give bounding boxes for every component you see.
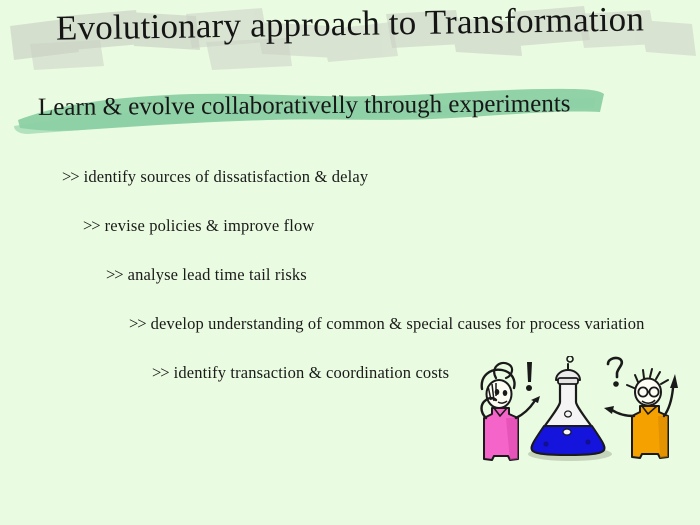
list-item: >>develop understanding of common & spec… [0,299,700,348]
two-people-with-flask-illustration [462,356,700,478]
bullet-marker-icon: >> [129,299,146,348]
page-subtitle: Learn & evolve collaborativelly through … [38,90,571,122]
bullet-marker-icon: >> [152,348,169,397]
erlenmeyer-flask-icon [528,356,612,461]
list-item: >>identify sources of dissatisfaction & … [0,152,700,201]
list-item-label: identify sources of dissatisfaction & de… [84,152,369,201]
list-item-label: identify transaction & coordination cost… [174,348,450,397]
exclamation-mark-icon [526,362,532,391]
bullet-marker-icon: >> [83,201,100,250]
slide-canvas: Evolutionary approach to Transformation … [0,0,700,525]
list-item-label: analyse lead time tail risks [128,250,307,299]
subtitle-band: Learn & evolve collaborativelly through … [0,86,700,138]
list-item-label: revise policies & improve flow [105,201,315,250]
list-item-label: develop understanding of common & specia… [151,299,645,348]
title-band: Evolutionary approach to Transformation [0,0,700,86]
list-item: >>revise policies & improve flow [0,201,700,250]
bullet-marker-icon: >> [106,250,123,299]
question-mark-icon [608,358,622,387]
list-item: >>analyse lead time tail risks [0,250,700,299]
bullet-marker-icon: >> [62,152,79,201]
